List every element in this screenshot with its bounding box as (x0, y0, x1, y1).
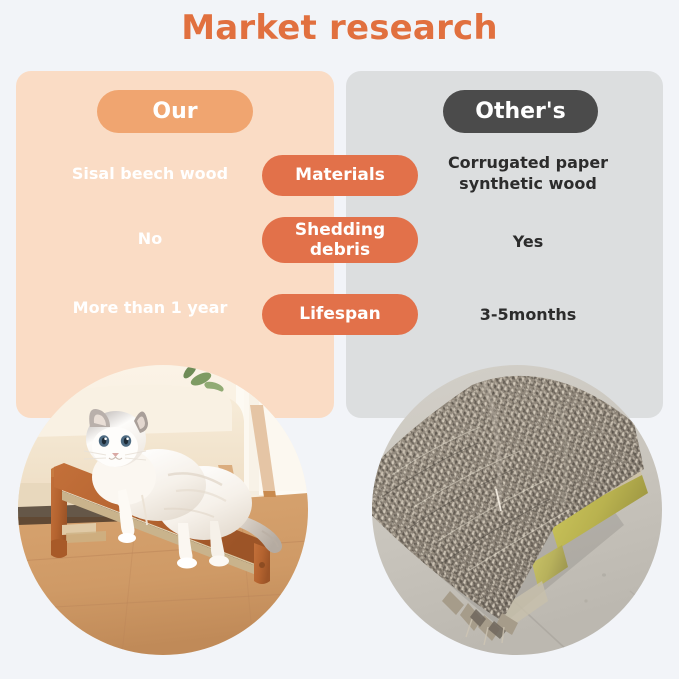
worn-corrugated-cardboard-scratcher-photo (372, 365, 662, 655)
others-value-materials: Corrugated paper synthetic wood (404, 153, 652, 195)
others-value-shedding: Yes (404, 232, 652, 253)
our-value-materials: Sisal beech wood (26, 164, 274, 185)
others-badge-label: Other's (475, 99, 565, 124)
attribute-pill-lifespan-label: Lifespan (299, 304, 380, 324)
cat-on-wooden-sisal-ramp-photo (18, 365, 308, 655)
cardboard-scratcher-illustration (372, 365, 662, 655)
our-badge-label: Our (152, 99, 197, 124)
attribute-pill-shedding-debris-label: Shedding debris (295, 220, 385, 260)
our-value-shedding: No (26, 229, 274, 250)
others-badge: Other's (443, 90, 598, 133)
cat-ramp-illustration (18, 365, 308, 655)
attribute-pill-materials: Materials (262, 155, 418, 196)
attribute-pill-materials-label: Materials (295, 165, 385, 185)
attribute-pill-shedding-debris: Shedding debris (262, 217, 418, 263)
attribute-pill-shedding-line1: Shedding (295, 220, 385, 240)
market-research-infographic: Market research Our Other's Sisal beech … (0, 0, 679, 679)
attribute-pill-shedding-line2: debris (310, 240, 370, 260)
attribute-pill-lifespan: Lifespan (262, 294, 418, 335)
our-value-lifespan: More than 1 year (26, 298, 274, 319)
others-value-materials-line1: Corrugated paper (404, 153, 652, 174)
others-value-lifespan: 3-5months (404, 305, 652, 326)
page-title: Market research (0, 8, 679, 48)
our-badge: Our (97, 90, 253, 133)
others-value-materials-line2: synthetic wood (404, 174, 652, 195)
